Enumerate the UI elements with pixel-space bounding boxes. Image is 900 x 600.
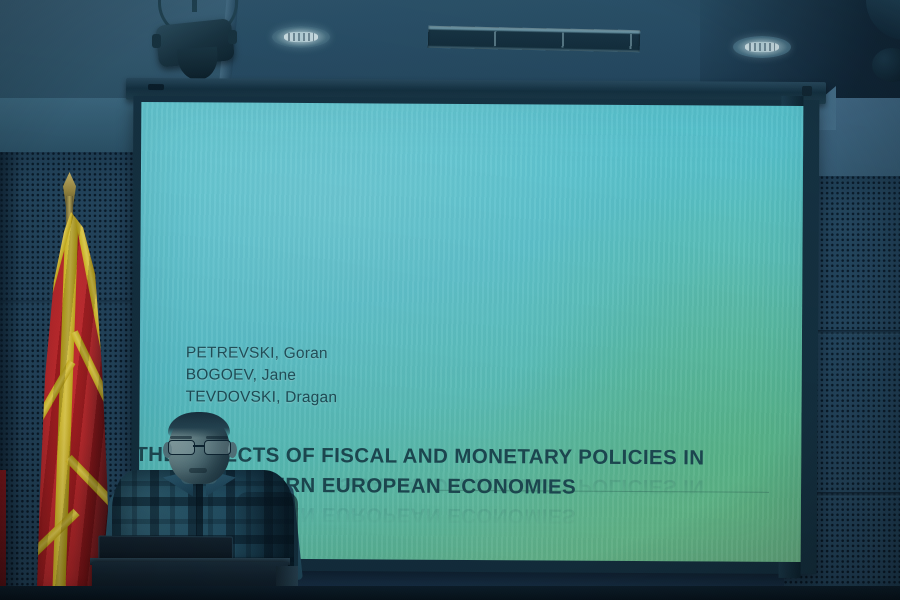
spotlight-knob [152,34,161,48]
presenter-mouth [189,468,207,473]
presenter-eyebrow-right [206,436,228,439]
eyeglasses-icon [166,440,232,453]
downlight-lamp [745,42,779,52]
slide-author-list: PETREVSKI, Goran BOGOEV, Jane TEVDOVSKI,… [186,342,338,409]
glasses-lens-left [168,440,195,455]
slide-author: TEVDOVSKI, Dragan [186,386,338,409]
slide-author: PETREVSKI, Goran [186,342,338,365]
glasses-bridge [193,445,204,447]
spotlight-knob [228,30,237,44]
floor-band [0,586,900,600]
slide-author: BOGOEV, Jane [186,364,338,387]
conference-photo-scene: PETREVSKI, Goran BOGOEV, Jane TEVDOVSKI,… [0,0,900,600]
housing-bracket [148,84,164,90]
downlight-icon [272,26,330,48]
wall-red-strip [0,470,6,600]
housing-bracket [802,86,812,96]
downlight-icon [733,36,791,58]
vent-icon [428,26,641,52]
glasses-lens-right [204,440,231,455]
presenter-eyebrow-left [170,436,192,439]
downlight-lamp [284,32,318,42]
